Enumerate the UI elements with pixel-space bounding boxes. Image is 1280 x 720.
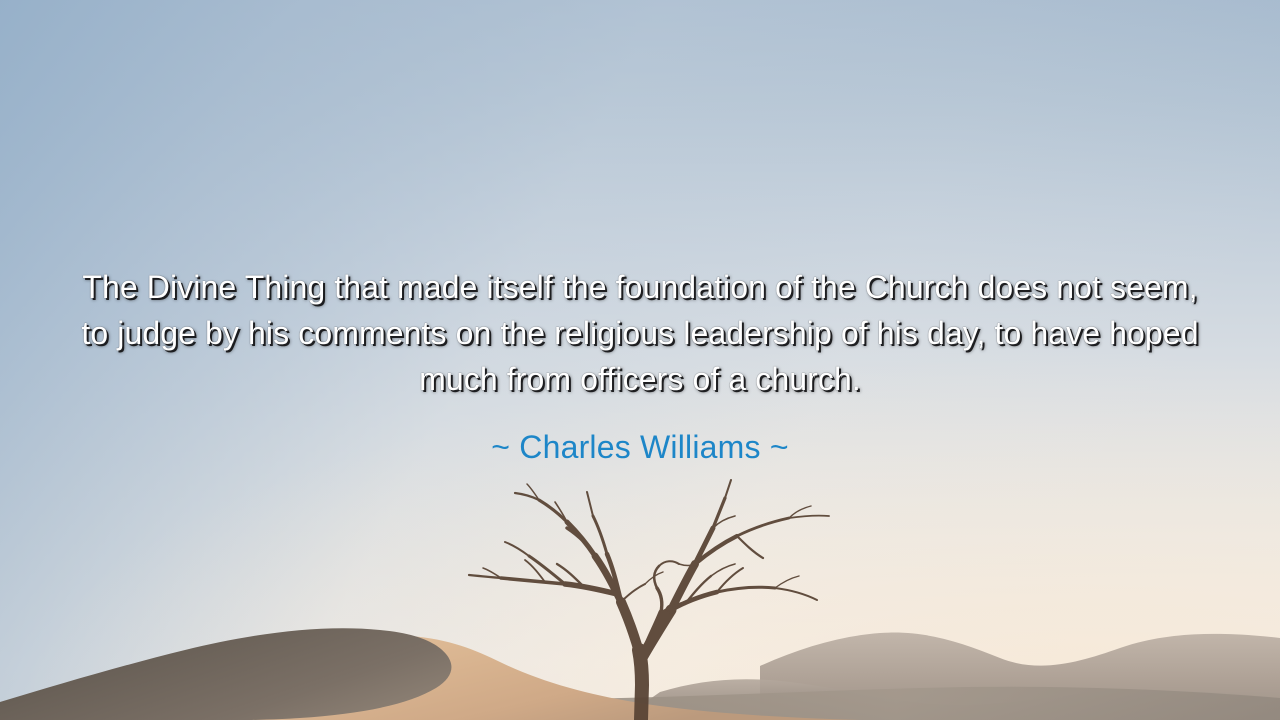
quote-image-canvas: The Divine Thing that made itself the fo… <box>0 0 1280 720</box>
quote-text: The Divine Thing that made itself the fo… <box>75 264 1205 402</box>
quote-author: ~ Charles Williams ~ <box>491 427 788 467</box>
dead-tree-silhouette <box>445 470 845 720</box>
